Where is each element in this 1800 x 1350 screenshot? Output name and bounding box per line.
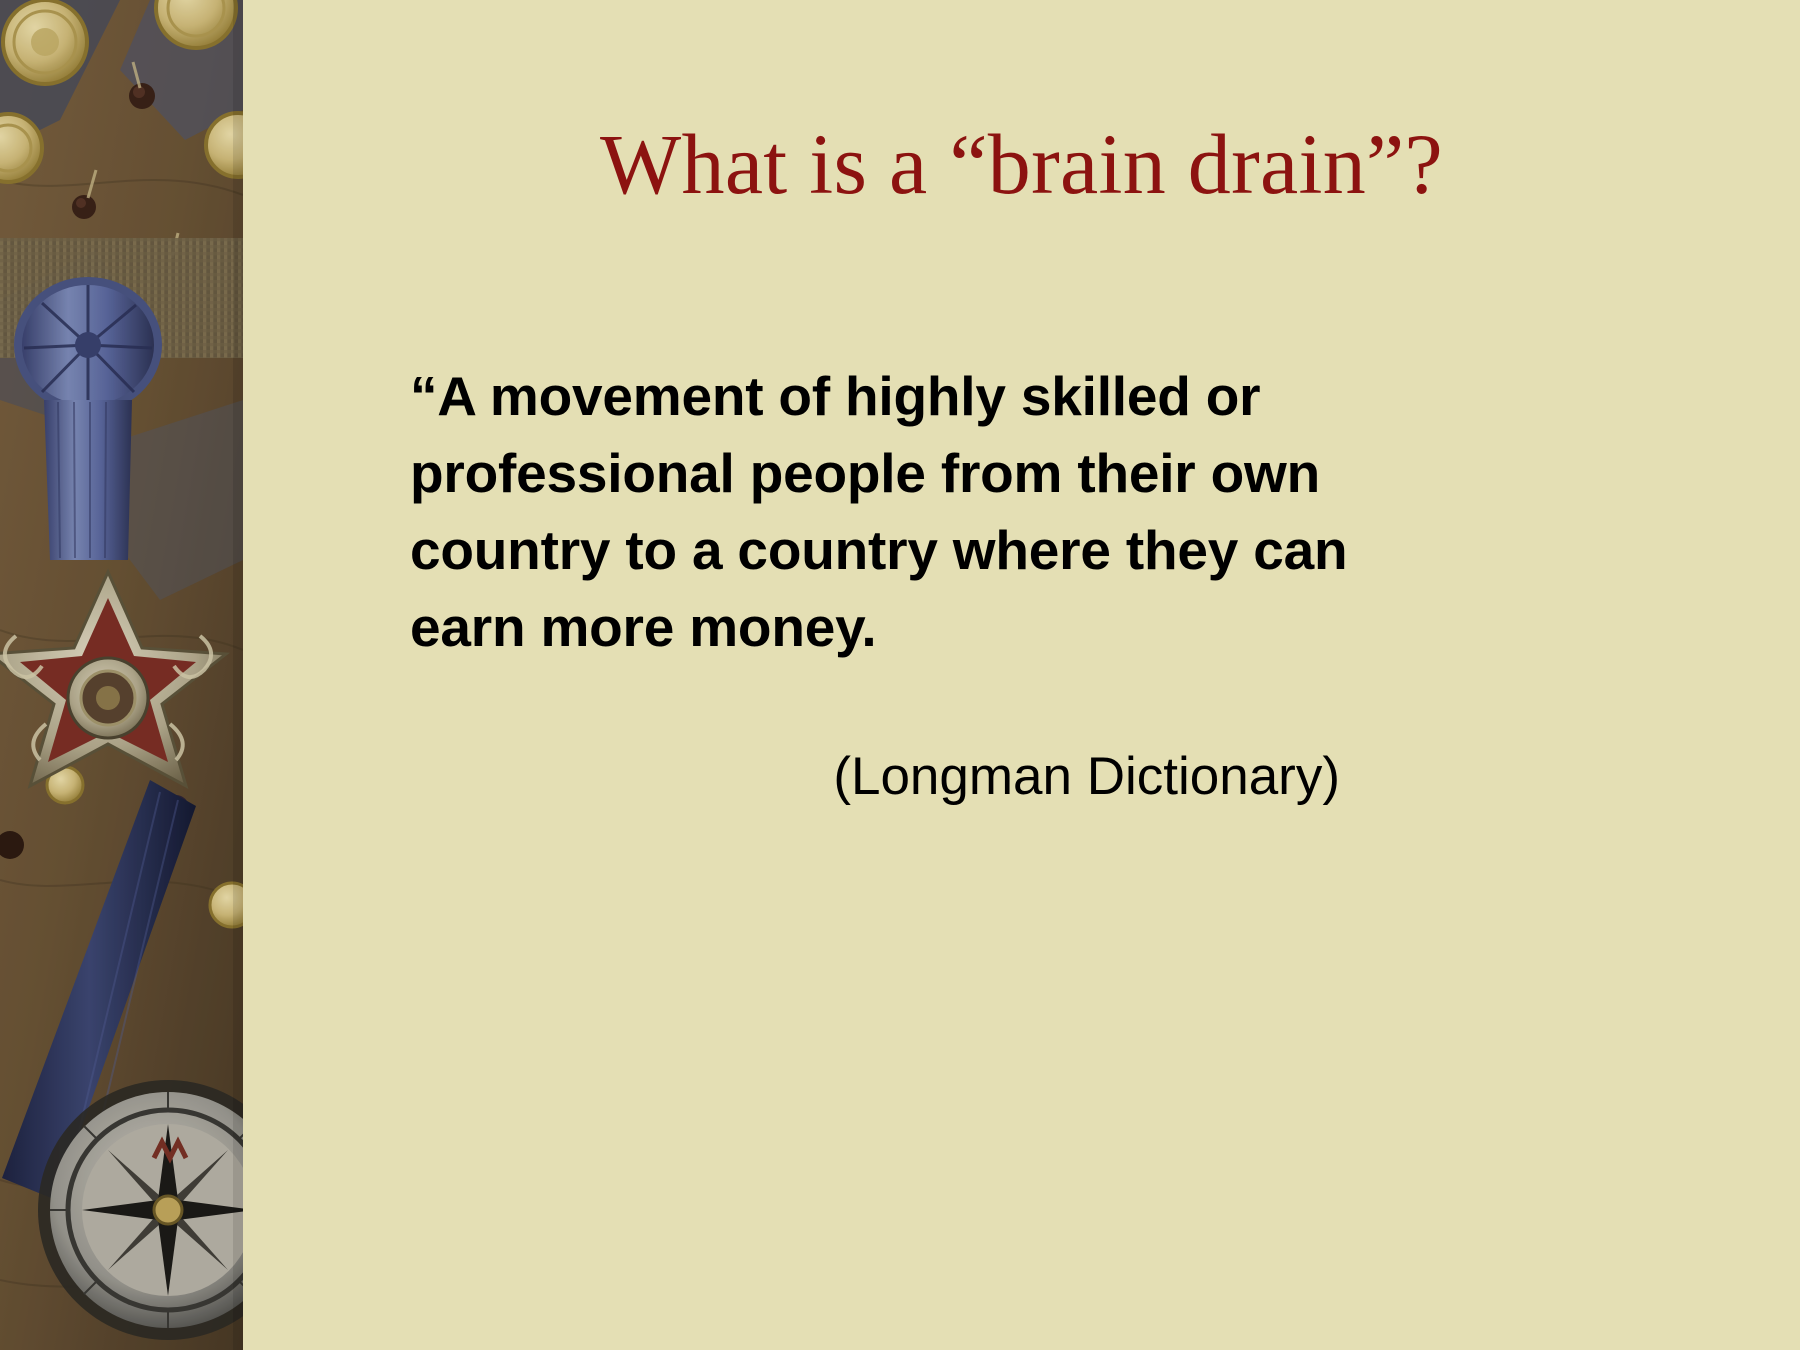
quote-line-1: “A movement of highly skilled or <box>410 358 1340 435</box>
quote-line-3: country to a country where they can <box>410 512 1340 589</box>
quote-text-block: “A movement of highly skilled or profess… <box>410 358 1340 666</box>
presentation-slide: What is a “brain drain”? “A movement of … <box>0 0 1800 1350</box>
quote-line-2: professional people from their own <box>410 435 1340 512</box>
quote-line-4: earn more money. <box>410 589 1340 666</box>
slide-title: What is a “brain drain”? <box>243 118 1800 211</box>
quote-attribution: (Longman Dictionary) <box>410 742 1340 812</box>
decorative-photo-strip <box>0 0 243 1350</box>
